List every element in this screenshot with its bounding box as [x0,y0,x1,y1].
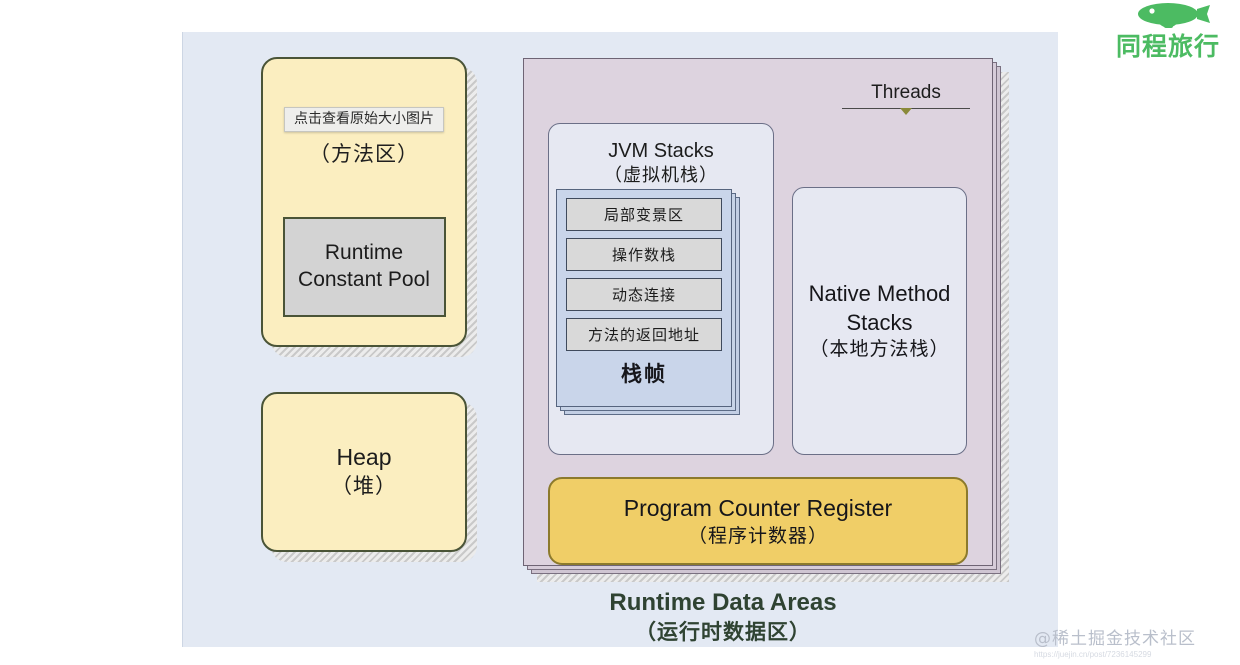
diagram-canvas: 点击查看原始大小图片 （方法区） Runtime Constant Pool H… [182,32,1058,647]
threads-box[interactable]: Threads JVM Stacks （虚拟机栈） 局部变景区 操作数栈 动态连… [523,58,993,566]
native-method-stacks-line1: Native Method [809,281,951,306]
program-counter-register-label-en: Program Counter Register [624,494,892,524]
page-root: 同程旅行 点击查看原始大小图片 （方法区） Runtime Constant P… [0,0,1240,665]
program-counter-register-box[interactable]: Program Counter Register （程序计数器） [548,477,968,565]
watermark-text: @稀土掘金技术社区 [1034,624,1234,649]
stack-frame-slot-local-variables[interactable]: 局部变景区 [566,198,722,231]
runtime-constant-pool-line2: Constant Pool [298,268,430,291]
program-counter-register-label-cn: （程序计数器） [688,524,828,549]
stack-frame-box[interactable]: 局部变景区 操作数栈 动态连接 方法的返回地址 栈帧 [556,189,732,407]
jvm-stacks-title: JVM Stacks （虚拟机栈） [549,138,773,188]
method-area-box[interactable]: 点击查看原始大小图片 （方法区） Runtime Constant Pool [261,57,467,347]
view-original-image-tooltip[interactable]: 点击查看原始大小图片 [284,107,444,132]
chevron-down-icon [900,108,912,115]
stack-frame-label: 栈帧 [566,358,722,388]
stack-frame-slot-operand-stack[interactable]: 操作数栈 [566,238,722,271]
runtime-constant-pool-box[interactable]: Runtime Constant Pool [283,217,446,317]
threads-label: Threads [842,83,970,104]
native-method-stacks-label-cn: （本地方法栈） [809,337,949,362]
jvm-stacks-title-en: JVM Stacks [549,138,773,164]
method-area-label-cn: （方法区） [309,138,419,168]
heap-label-cn: （堆） [331,473,397,500]
stack-frame-slot-return-address[interactable]: 方法的返回地址 [566,318,722,351]
watermark: @稀土掘金技术社区 https://juejin.cn/post/7236145… [1034,624,1234,659]
jvm-stacks-title-cn: （虚拟机栈） [549,164,773,188]
brand-logo: 同程旅行 [1100,2,1236,64]
threads-label-group: Threads [842,83,970,109]
heap-box[interactable]: Heap （堆） [261,392,467,552]
brand-logo-text: 同程旅行 [1100,32,1236,62]
runtime-constant-pool-line1: Runtime [325,241,403,264]
native-method-stacks-line2: Stacks [846,310,912,335]
watermark-url: https://juejin.cn/post/7236145299 [1034,650,1234,659]
native-method-stacks-box[interactable]: Native Method Stacks （本地方法栈） [792,187,967,455]
stack-frame-slot-dynamic-linking[interactable]: 动态连接 [566,278,722,311]
native-method-stacks-label-en: Native Method Stacks [809,280,951,337]
diagram-caption: Runtime Data Areas （运行时数据区） [513,588,933,646]
diagram-caption-en: Runtime Data Areas [513,588,933,619]
threads-underline [842,108,970,109]
heap-label-en: Heap [337,443,392,473]
airship-icon [1100,2,1236,32]
diagram-caption-cn: （运行时数据区） [513,619,933,646]
